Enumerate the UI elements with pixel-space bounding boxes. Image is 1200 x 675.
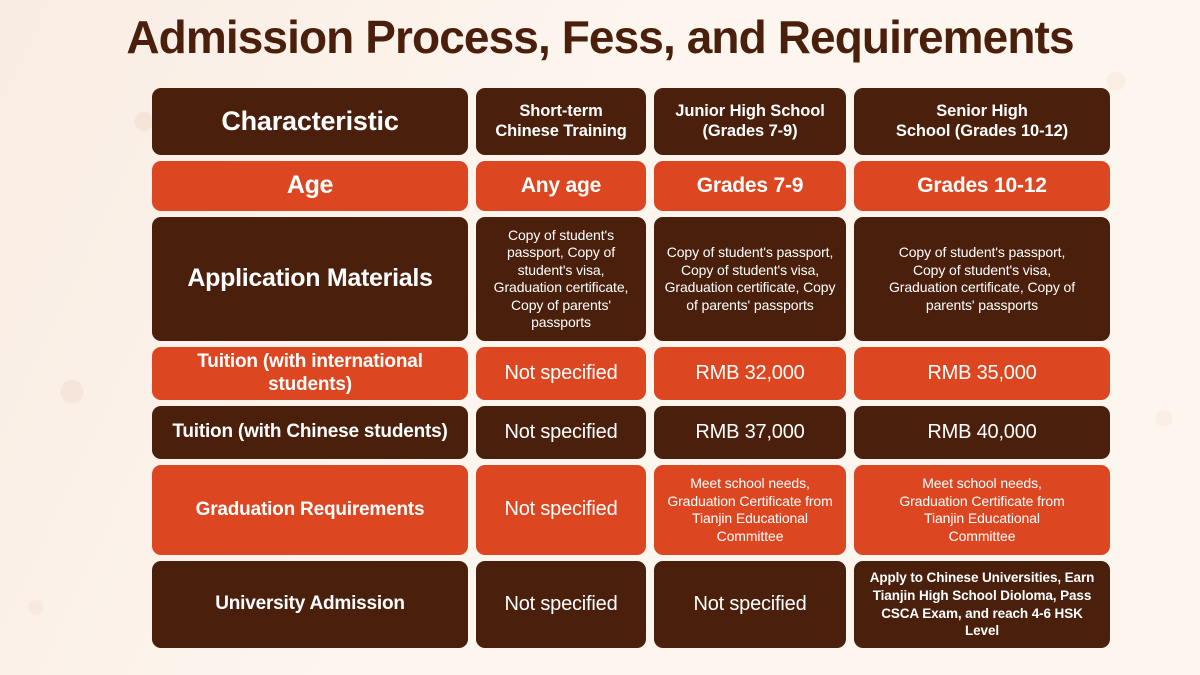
- page-title: Admission Process, Fess, and Requirement…: [0, 12, 1200, 63]
- cell-materials-senior: Copy of student's passport, Copy of stud…: [854, 217, 1110, 341]
- cell-university-senior: Apply to Chinese Universities, Earn Tian…: [854, 561, 1110, 648]
- cell-tuition-cn-junior: RMB 37,000: [654, 406, 846, 459]
- cell-graduation-short-term: Not specified: [476, 465, 646, 555]
- cell-age-senior: Grades 10-12: [854, 161, 1110, 211]
- header-cell-short-term: Short-term Chinese Training: [476, 88, 646, 155]
- table-row-graduation-requirements: Graduation Requirements Not specified Me…: [152, 465, 1110, 555]
- row-label-tuition-chinese: Tuition (with Chinese students): [152, 406, 468, 459]
- cell-tuition-intl-senior: RMB 35,000: [854, 347, 1110, 400]
- cell-tuition-intl-short-term: Not specified: [476, 347, 646, 400]
- header-cell-junior-high: Junior High School (Grades 7-9): [654, 88, 846, 155]
- cell-age-junior: Grades 7-9: [654, 161, 846, 211]
- cell-age-short-term: Any age: [476, 161, 646, 211]
- row-label-tuition-international: Tuition (with international students): [152, 347, 468, 400]
- table-row-university-admission: University Admission Not specified Not s…: [152, 561, 1110, 648]
- cell-graduation-senior: Meet school needs, Graduation Certificat…: [854, 465, 1110, 555]
- header-cell-senior-high: Senior High School (Grades 10-12): [854, 88, 1110, 155]
- table-header-row: Characteristic Short-term Chinese Traini…: [152, 88, 1110, 155]
- cell-tuition-cn-short-term: Not specified: [476, 406, 646, 459]
- table-row-tuition-international: Tuition (with international students) No…: [152, 347, 1110, 400]
- cell-graduation-junior: Meet school needs, Graduation Certificat…: [654, 465, 846, 555]
- row-label-application-materials: Application Materials: [152, 217, 468, 341]
- row-label-age: Age: [152, 161, 468, 211]
- cell-university-short-term: Not specified: [476, 561, 646, 648]
- cell-university-junior: Not specified: [654, 561, 846, 648]
- comparison-table: Characteristic Short-term Chinese Traini…: [152, 88, 1110, 648]
- cell-tuition-cn-senior: RMB 40,000: [854, 406, 1110, 459]
- table-row-tuition-chinese: Tuition (with Chinese students) Not spec…: [152, 406, 1110, 459]
- cell-tuition-intl-junior: RMB 32,000: [654, 347, 846, 400]
- cell-materials-short-term: Copy of student's passport, Copy of stud…: [476, 217, 646, 341]
- row-label-graduation-requirements: Graduation Requirements: [152, 465, 468, 555]
- table-row-application-materials: Application Materials Copy of student's …: [152, 217, 1110, 341]
- cell-materials-junior: Copy of student's passport, Copy of stud…: [654, 217, 846, 341]
- header-cell-characteristic: Characteristic: [152, 88, 468, 155]
- infographic-poster: Admission Process, Fess, and Requirement…: [0, 0, 1200, 675]
- table-row-age: Age Any age Grades 7-9 Grades 10-12: [152, 161, 1110, 211]
- row-label-university-admission: University Admission: [152, 561, 468, 648]
